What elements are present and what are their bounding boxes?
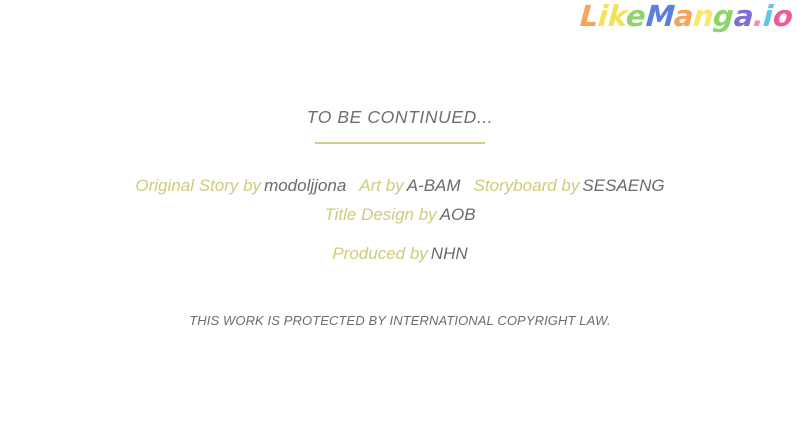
to-be-continued-text: TO BE CONTINUED... xyxy=(0,107,800,128)
credit-name: AOB xyxy=(440,205,476,224)
credit-line-story-art-storyboard: Original Story bymodoljjonaArt byA-BAMSt… xyxy=(0,176,800,196)
credit-name: NHN xyxy=(431,244,468,263)
credit-name: modoljjona xyxy=(264,176,346,195)
credit-role: Original Story by xyxy=(135,176,261,195)
logo-letter: M xyxy=(645,2,675,31)
logo-letter: a xyxy=(732,2,753,31)
credit-line-produced-by: Produced byNHN xyxy=(0,244,800,264)
logo-letter: g xyxy=(712,2,734,31)
copyright-notice: THIS WORK IS PROTECTED BY INTERNATIONAL … xyxy=(0,313,800,328)
logo-letter: e xyxy=(625,2,646,31)
credits-divider xyxy=(315,142,485,144)
logo-letter: a xyxy=(673,2,694,31)
credit-role: Art by xyxy=(359,176,403,195)
logo-letter: n xyxy=(692,2,714,31)
logo-letter: o xyxy=(772,2,793,31)
credit-role: Storyboard by xyxy=(474,176,580,195)
likemanga-logo[interactable]: LikeManga.io xyxy=(580,2,792,31)
credit-role: Title Design by xyxy=(324,205,436,224)
credit-name: A-BAM xyxy=(407,176,461,195)
logo-letter: L xyxy=(579,2,599,31)
credit-name: SESAENG xyxy=(582,176,664,195)
credit-role: Produced by xyxy=(332,244,427,263)
credit-line-title-design: Title Design byAOB xyxy=(0,205,800,225)
